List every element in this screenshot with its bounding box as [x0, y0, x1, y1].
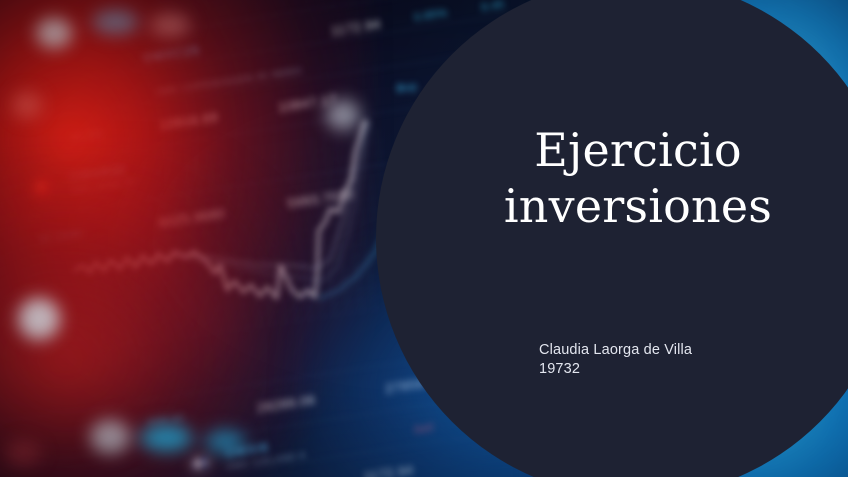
- slide-title-line-1: Ejercicio: [452, 122, 824, 178]
- author-name: Claudia Laorga de Villa: [539, 341, 692, 360]
- presentation-slide: OMXC25 1172.94 0.85% 9.45 OMX COPENHAGEN…: [0, 0, 848, 477]
- student-id: 19732: [539, 360, 692, 379]
- page-title: Ejercicio inversiones: [452, 122, 824, 234]
- slide-subtitle: Claudia Laorga de Villa 19732: [539, 341, 692, 379]
- navy-circle-shape: [376, 0, 848, 477]
- ticker-extra: 9.45: [481, 0, 505, 14]
- slide-title-line-2: inversiones: [452, 178, 824, 234]
- ticker-change: 0.85%: [414, 7, 448, 24]
